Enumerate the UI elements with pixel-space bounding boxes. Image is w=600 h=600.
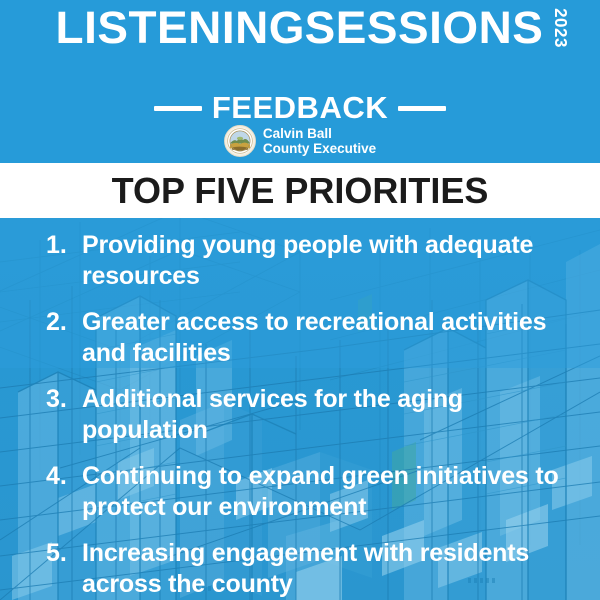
feedback-label: FEEDBACK [212, 92, 388, 124]
banner-title: TOP FIVE PRIORITIES [112, 172, 489, 210]
list-item-text: Continuing to expand green initiatives t… [82, 461, 586, 523]
executive-name: Calvin Ball [263, 126, 376, 141]
list-item-number: 4. [46, 461, 82, 492]
poster-header: LISTENING SESSIONS 2023 FEEDBACK [0, 0, 600, 163]
list-item-text: Greater access to recreational activitie… [82, 307, 586, 369]
list-item-text: Providing young people with adequate res… [82, 230, 586, 292]
list-item-number: 2. [46, 307, 82, 338]
year-label: 2023 [553, 8, 570, 48]
list-item-text: Increasing engagement with residents acr… [82, 538, 586, 600]
list-item: 1. Providing young people with adequate … [46, 230, 586, 292]
list-item-number: 5. [46, 538, 82, 569]
executive-name-block: Calvin Ball County Executive [263, 126, 376, 156]
list-item-text: Additional services for the aging popula… [82, 384, 586, 446]
list-item: 4. Continuing to expand green initiative… [46, 461, 586, 523]
list-item-number: 1. [46, 230, 82, 261]
title-line-sessions: SESSIONS 2023 [305, 8, 544, 48]
executive-title: County Executive [263, 141, 376, 156]
rule-right-icon [398, 106, 446, 111]
rule-left-icon [154, 106, 202, 111]
list-item-number: 3. [46, 384, 82, 415]
poster-canvas: LISTENING SESSIONS 2023 FEEDBACK [0, 0, 600, 600]
county-seal-icon [224, 125, 256, 157]
list-item: 3. Additional services for the aging pop… [46, 384, 586, 446]
priorities-list: 1. Providing young people with adequate … [0, 230, 600, 600]
title-line-listening: LISTENING [56, 8, 305, 48]
year-badge: 2023 [548, 9, 575, 47]
list-item: 2. Greater access to recreational activi… [46, 307, 586, 369]
list-item: 5. Increasing engagement with residents … [46, 538, 586, 600]
executive-signature-row: Calvin Ball County Executive [0, 125, 600, 157]
priorities-banner: TOP FIVE PRIORITIES [0, 163, 600, 218]
event-title-block: LISTENING SESSIONS 2023 [0, 8, 600, 48]
feedback-subtitle-row: FEEDBACK [0, 92, 600, 124]
